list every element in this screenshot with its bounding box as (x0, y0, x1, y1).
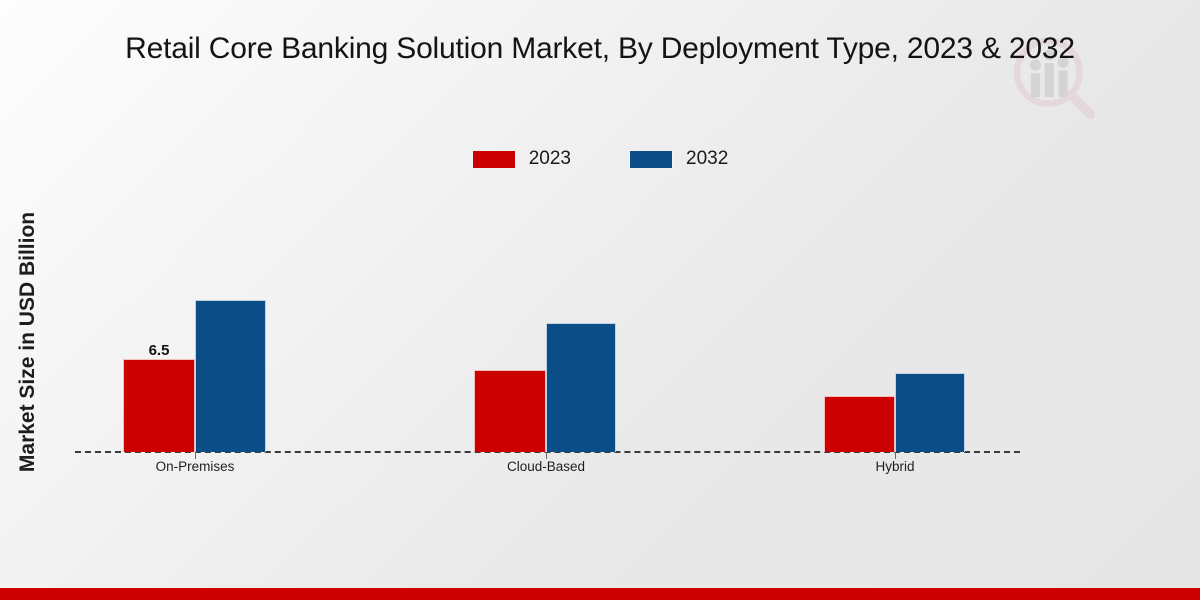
bar-2023-hybrid[interactable] (824, 396, 895, 452)
category-label-on-premises: On-Premises (156, 459, 235, 474)
axis-tick-hybrid (895, 452, 896, 459)
bar-2032-cloud-based[interactable] (546, 323, 616, 452)
bar-2023-cloud-based[interactable] (474, 370, 546, 452)
plot-area: 6.5 On-Premises Cloud-Based Hybrid (0, 0, 1200, 600)
bar-2023-on-premises[interactable] (123, 359, 195, 452)
value-label-2023-on-premises: 6.5 (149, 342, 170, 359)
category-label-hybrid: Hybrid (875, 459, 914, 474)
bar-2032-on-premises[interactable] (195, 300, 266, 452)
bar-2032-hybrid[interactable] (895, 373, 965, 452)
axis-tick-on-premises (195, 452, 196, 459)
chart-page: Retail Core Banking Solution Market, By … (0, 0, 1200, 600)
footer-accent-strip (0, 588, 1200, 600)
category-label-cloud-based: Cloud-Based (507, 459, 585, 474)
axis-tick-cloud-based (546, 452, 547, 459)
